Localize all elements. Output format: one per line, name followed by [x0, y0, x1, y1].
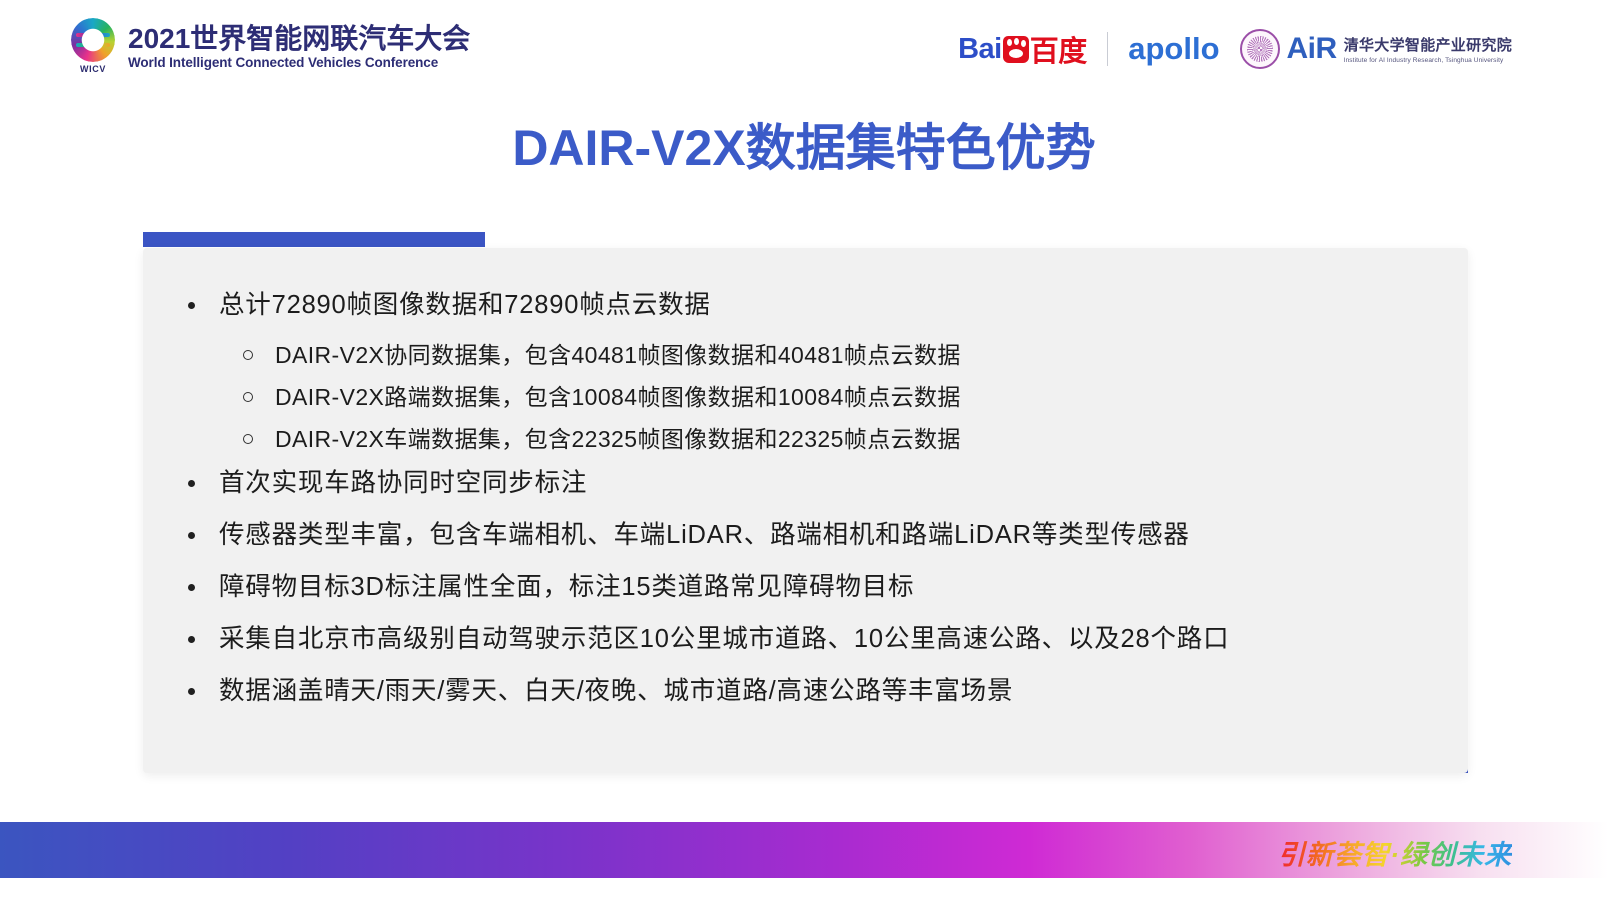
wicv-conference-logo: WICV 2021世界智能网联汽车大会 World Intelligent Co… — [66, 18, 470, 76]
bullet-item: 首次实现车路协同时空同步标注 — [185, 464, 1438, 502]
conference-title-cn: 2021世界智能网联汽车大会 — [128, 24, 470, 53]
bullet-item: 总计72890帧图像数据和72890帧点云数据 — [185, 286, 1438, 324]
sub-bullet-marker-icon — [241, 422, 275, 456]
content-card: 总计72890帧图像数据和72890帧点云数据DAIR-V2X协同数据集，包含4… — [143, 248, 1468, 773]
air-logo: AiR 清华大学智能产业研究院 Institute for AI Industr… — [1240, 29, 1512, 69]
bullet-item: 障碍物目标3D标注属性全面，标注15类道路常见障碍物目标 — [185, 568, 1438, 606]
bullet-text: 传感器类型丰富，包含车端相机、车端LiDAR、路端相机和路端LiDAR等类型传感… — [219, 516, 1190, 554]
wicv-circular-logo-icon — [71, 18, 115, 62]
bullet-item: 采集自北京市高级别自动驾驶示范区10公里城市道路、10公里高速公路、以及28个路… — [185, 620, 1438, 658]
bullet-marker-icon — [185, 672, 219, 710]
air-logo-mark: AiR — [1287, 32, 1337, 66]
sub-bullet-item: DAIR-V2X车端数据集，包含22325帧图像数据和22325帧点云数据 — [241, 422, 1438, 456]
bullet-marker-icon — [185, 464, 219, 502]
bullet-text: 障碍物目标3D标注属性全面，标注15类道路常见障碍物目标 — [219, 568, 914, 606]
sub-bullet-item: DAIR-V2X路端数据集，包含10084帧图像数据和10084帧点云数据 — [241, 380, 1438, 414]
conference-title-en: World Intelligent Connected Vehicles Con… — [128, 55, 470, 70]
air-name-cn: 清华大学智能产业研究院 — [1344, 34, 1512, 55]
slide-title: DAIR-V2X数据集特色优势 — [0, 108, 1608, 180]
wicv-logo-word: WICV — [80, 64, 106, 74]
bullet-text: 总计72890帧图像数据和72890帧点云数据 — [219, 286, 711, 324]
apollo-logo: apollo — [1128, 31, 1219, 67]
bullet-list: 总计72890帧图像数据和72890帧点云数据DAIR-V2X协同数据集，包含4… — [143, 248, 1468, 724]
sub-bullet-marker-icon — [241, 380, 275, 414]
wicv-logo-mark: WICV — [66, 18, 120, 76]
bullet-item: 传感器类型丰富，包含车端相机、车端LiDAR、路端相机和路端LiDAR等类型传感… — [185, 516, 1438, 554]
bullet-marker-icon — [185, 568, 219, 606]
bullet-marker-icon — [185, 620, 219, 658]
logo-divider — [1107, 32, 1109, 66]
bullet-text: DAIR-V2X协同数据集，包含40481帧图像数据和40481帧点云数据 — [275, 338, 961, 372]
baidu-logo: Bai 百度 — [958, 28, 1087, 70]
baidu-paw-icon — [1003, 36, 1029, 63]
bullet-text: 采集自北京市高级别自动驾驶示范区10公里城市道路、10公里高速公路、以及28个路… — [219, 620, 1229, 658]
sub-bullet-marker-icon — [241, 338, 275, 372]
conference-slogan: 引新荟智·绿创未来 — [1278, 833, 1512, 872]
baidu-logo-cn: 百度 — [1030, 28, 1087, 70]
baidu-logo-en: Bai — [958, 33, 1002, 66]
bullet-marker-icon — [185, 286, 219, 324]
bullet-text: 数据涵盖晴天/雨天/雾天、白天/夜晚、城市道路/高速公路等丰富场景 — [219, 672, 1013, 710]
bullet-text: 首次实现车路协同时空同步标注 — [219, 464, 587, 502]
air-logo-text: 清华大学智能产业研究院 Institute for AI Industry Re… — [1344, 34, 1512, 64]
slide-header: WICV 2021世界智能网联汽车大会 World Intelligent Co… — [0, 0, 1608, 92]
accent-bar-top-left — [143, 232, 485, 247]
bullet-text: DAIR-V2X路端数据集，包含10084帧图像数据和10084帧点云数据 — [275, 380, 961, 414]
tsinghua-seal-icon — [1240, 29, 1280, 69]
air-name-en: Institute for AI Industry Research, Tsin… — [1344, 57, 1512, 64]
partner-logo-group: Bai 百度 apollo AiR 清华大学智能产业研究院 Institute … — [958, 28, 1512, 70]
sub-bullet-item: DAIR-V2X协同数据集，包含40481帧图像数据和40481帧点云数据 — [241, 338, 1438, 372]
wicv-logo-text: 2021世界智能网联汽车大会 World Intelligent Connect… — [128, 24, 470, 69]
bullet-marker-icon — [185, 516, 219, 554]
bullet-item: 数据涵盖晴天/雨天/雾天、白天/夜晚、城市道路/高速公路等丰富场景 — [185, 672, 1438, 710]
bullet-text: DAIR-V2X车端数据集，包含22325帧图像数据和22325帧点云数据 — [275, 422, 961, 456]
